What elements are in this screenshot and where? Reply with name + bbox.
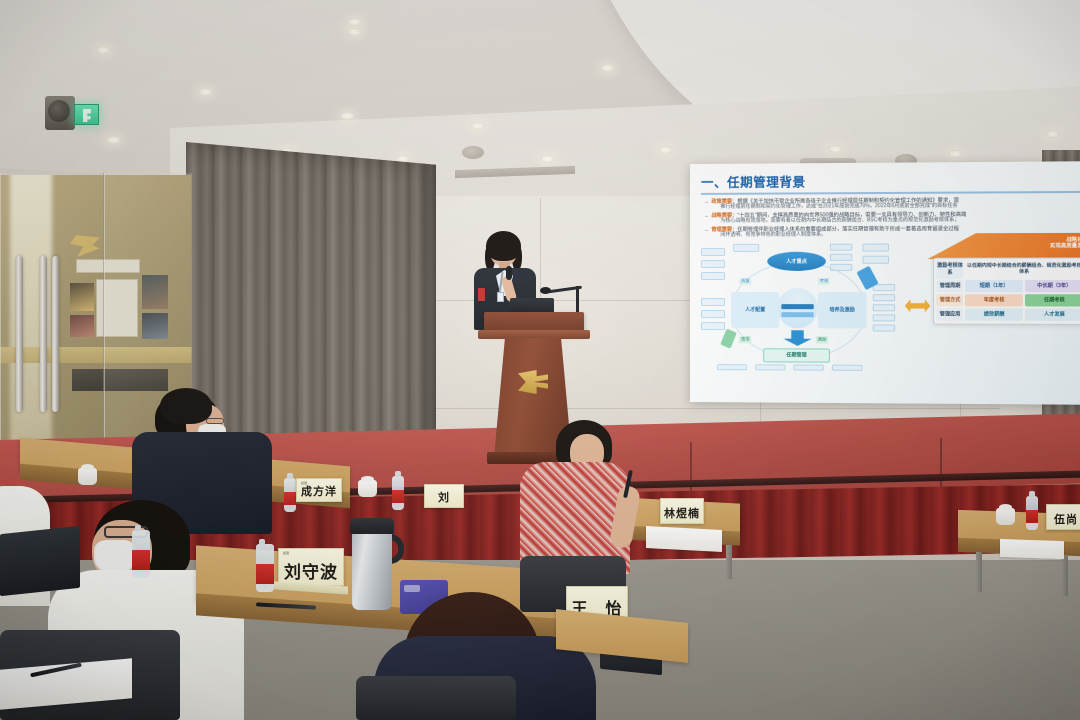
table-cell: 短期（1年） <box>965 280 1023 292</box>
diagram-side-box <box>701 298 725 306</box>
diagram-side-box <box>830 243 852 250</box>
attendee-hair <box>160 388 212 424</box>
laptop[interactable] <box>0 526 80 596</box>
handheld-microphone-icon <box>506 266 512 280</box>
name-card-name: 伍尚 <box>1054 511 1078 527</box>
incentive-table: 激励考核体系 以任期内短中长期结合的薪酬组合、规范化激励考核体系 管理周期 短期… <box>934 257 1080 325</box>
chair-back <box>356 676 516 720</box>
diagram-side-box <box>873 324 895 331</box>
ceiling-downlight <box>600 64 615 72</box>
name-card-name: 林煜楠 <box>664 505 700 521</box>
diagram-tag: 考核 <box>818 278 831 285</box>
table-row-header: 管理应用 <box>937 308 964 320</box>
bullet-dash-icon: – <box>705 226 708 238</box>
presentation-slide: 一、任期管理背景 – 政策需要：根据《关于加快市管企业所属各级子企业推行经理层任… <box>690 161 1080 405</box>
ceiling-speaker-icon <box>462 146 484 159</box>
water-bottle <box>392 476 404 510</box>
podium-lip <box>478 330 590 339</box>
diagram-top-node: 人才重点 <box>767 251 826 270</box>
tea-cup <box>996 508 1015 525</box>
ceiling-downlight <box>198 88 213 96</box>
ceiling-downlight <box>106 136 121 144</box>
diagram-tag: 使用 <box>739 336 751 343</box>
diagram-footer-box <box>793 364 823 370</box>
conference-room-photo: 一、任期管理背景 – 政策需要：根据《关于加快市管企业所属各级子企业推行经理层任… <box>0 0 1080 720</box>
water-bottle <box>1026 496 1038 530</box>
table-leg <box>976 552 982 592</box>
table-row: 管理方式 年度考核 任期考核 <box>937 294 1080 307</box>
speaker-hair <box>486 231 521 261</box>
ceiling-downlight <box>658 146 673 154</box>
ceiling-downlight <box>828 145 843 153</box>
slide-table-region: 战略目标 实现高质量发展 激励考核体系 以任期内短中长期结合的薪酬组合、规范化激… <box>934 241 1080 372</box>
diagram-tag: 激励 <box>816 336 829 343</box>
diagram-side-box <box>873 304 895 311</box>
name-card: 刘 <box>424 484 464 508</box>
table-row-header: 管理方式 <box>937 294 964 306</box>
ceiling-downlight <box>96 46 111 54</box>
diagram-side-box <box>862 243 889 251</box>
diagram-tag: 选拔 <box>739 278 751 285</box>
thermos-flask <box>352 530 392 610</box>
table-cell: 年度考核 <box>965 294 1023 307</box>
diagram-core-circle <box>777 288 817 328</box>
ceiling-downlight <box>470 122 485 130</box>
ceiling-downlight <box>1045 130 1060 138</box>
table-row: 管理应用 绩效薪酬 人才发展 <box>937 308 1080 321</box>
ceiling-downlight <box>347 18 362 26</box>
diagram-core-bar <box>781 312 813 317</box>
diagram-side-box <box>733 243 759 251</box>
bullet-subtext: 推行经理层任期制和契约化管理工作，达成"在2021年底前完成70%，2022年6… <box>711 203 959 210</box>
door-handle-icon[interactable] <box>16 256 23 412</box>
name-card-name: 成方洋 <box>301 483 337 499</box>
bottle-label <box>1026 510 1038 523</box>
diagram-chip-icon <box>720 328 737 348</box>
diagram-side-box <box>701 310 725 318</box>
diagram-footer-box <box>717 364 747 370</box>
double-arrow-icon <box>905 297 931 314</box>
table-cell: 人才发展 <box>1025 308 1080 321</box>
table-row-header: 管理周期 <box>937 280 964 292</box>
thermos-lid <box>350 518 394 534</box>
diagram-side-box <box>862 255 889 263</box>
water-bottle <box>256 544 274 592</box>
diagram-side-box <box>830 253 852 260</box>
ceiling-downlight <box>347 28 362 36</box>
slide-title: 一、任期管理背景 <box>701 169 1080 192</box>
face-mask <box>94 540 136 574</box>
table-row: 管理周期 短期（1年） 中长期（3年） <box>937 280 1080 293</box>
microphone-pole <box>576 286 579 312</box>
diagram-footer-box <box>832 364 863 370</box>
bottle-label <box>284 492 296 505</box>
table-row: 激励考核体系 以任期内短中长期结合的薪酬组合、规范化激励考核体系 <box>937 260 1080 278</box>
eyeglasses-icon <box>206 418 224 424</box>
name-card-org: 经理 <box>283 551 289 555</box>
bullet-subtext: 为核心战略有效落地，需要有着以任期内中长期结合的薪酬组合、BSC考核为重点的规范… <box>711 218 966 225</box>
table-cell: 中长期（3年） <box>1025 280 1080 293</box>
diagram-side-box <box>701 259 725 267</box>
table-leg <box>726 545 732 579</box>
bottle-label <box>392 490 404 503</box>
diagram-right-node: 培养及激励 <box>818 292 867 328</box>
diagram-side-box <box>701 272 725 280</box>
name-card-name: 刘 <box>438 489 450 505</box>
table-cell: 任期考核 <box>1025 294 1080 307</box>
diagram-left-node: 人才配置 <box>731 292 779 328</box>
microphone-head-icon <box>540 287 551 294</box>
slide-bullet-list: – 政策需要：根据《关于加快市管企业所属各级子企业推行经理层任期制和契约化管理工… <box>701 197 1080 239</box>
slide-cycle-diagram: 人才重点 人才配置 培养及激励 任期管理 选拔 考核 使用 激励 <box>701 241 902 371</box>
bullet-dash-icon: – <box>705 198 708 210</box>
diagram-bottom-node: 任期管理 <box>763 348 830 362</box>
diagram-side-box <box>701 322 725 330</box>
speaker-badge <box>497 292 504 302</box>
table-cell: 以任期内短中长期结合的薪酬组合、规范化激励考核体系 <box>965 260 1080 278</box>
note-paper <box>1000 539 1064 559</box>
speaker-red-ribbon <box>478 288 485 301</box>
slide-bullet: – 战略需要："十四五"期间，支撑高质量的向世界500强的战略目标，需要一支具有… <box>705 211 1080 225</box>
bottle-label <box>132 550 150 570</box>
diagram-side-box <box>873 314 895 321</box>
name-card: 经理 刘守波 <box>278 548 344 586</box>
door-handle-icon[interactable] <box>52 256 59 412</box>
table-row-header: 激励考核体系 <box>937 260 964 278</box>
ceiling-downlight <box>540 155 555 163</box>
water-bottle <box>284 478 296 512</box>
wall-speaker-icon <box>45 96 75 130</box>
name-card-name: 刘守波 <box>284 558 338 583</box>
ceiling-downlight <box>948 150 963 158</box>
door-handle-icon[interactable] <box>40 256 47 412</box>
tea-cup <box>358 480 377 497</box>
ceiling-downlight <box>340 112 355 120</box>
water-bottle <box>132 530 150 578</box>
projection-screen: 一、任期管理背景 – 政策需要：根据《关于加快市管企业所属各级子企业推行经理层任… <box>690 161 1080 405</box>
slide-lower-region: 人才重点 人才配置 培养及激励 任期管理 选拔 考核 使用 激励 <box>701 241 1080 372</box>
bullet-subtext: 闭环透明、有竞争特色的职业经理人制度体系。 <box>711 232 959 239</box>
note-paper <box>646 526 722 552</box>
tea-cup <box>78 468 97 485</box>
banner-line-2: 实现高质量发展 <box>927 243 1080 250</box>
name-card: 经理 成方洋 <box>296 478 342 502</box>
bottle-label <box>256 564 274 584</box>
name-card: 林煜楠 <box>660 498 704 524</box>
exit-sign-icon <box>74 104 99 125</box>
diagram-footer-box <box>755 364 785 370</box>
diagram-core-bar <box>781 304 813 309</box>
diagram-side-box <box>701 247 725 255</box>
name-card-org: 经理 <box>301 481 307 485</box>
diagram-side-box <box>873 294 895 301</box>
slide-bullet: – 政策需要：根据《关于加快市管企业所属各级子企业推行经理层任期制和契约化管理工… <box>705 197 1080 211</box>
name-card: 伍尚 <box>1046 504 1080 530</box>
bullet-dash-icon: – <box>705 212 708 224</box>
table-cell: 绩效薪酬 <box>965 308 1023 321</box>
table-leg <box>1062 556 1068 596</box>
